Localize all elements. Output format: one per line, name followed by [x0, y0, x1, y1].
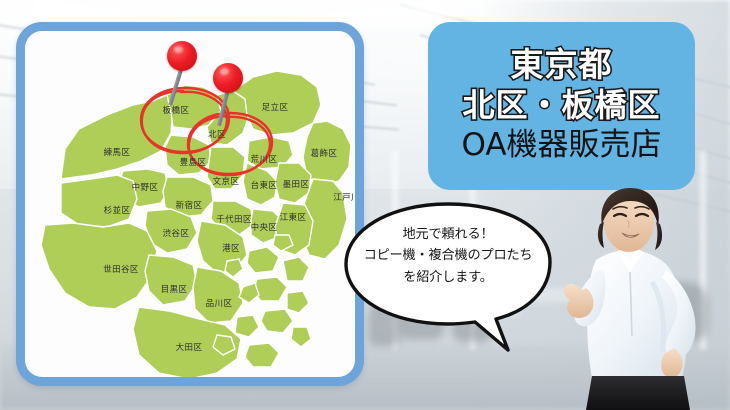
pin-head: [167, 41, 197, 71]
ward-label: 大田区: [176, 341, 203, 353]
presenter-hair-side-left: [598, 222, 604, 248]
ward-label: 文京区: [213, 175, 240, 187]
presenter-hair-side-right: [655, 222, 662, 250]
ward-label: 墨田区: [283, 178, 310, 190]
ward-label: 足立区: [262, 101, 289, 113]
title-line-3: OA機器販売店: [461, 127, 661, 164]
map-card: 練馬区板橋区北区足立区葛飾区荒川区豊島区文京区台東区墨田区江戸川区中野区新宿区千…: [16, 22, 364, 386]
map-container: 練馬区板橋区北区足立区葛飾区荒川区豊島区文京区台東区墨田区江戸川区中野区新宿区千…: [25, 31, 355, 377]
title-panel: 東京都 北区・板橋区 OA機器販売店: [428, 22, 695, 190]
ward-label: 江東区: [280, 211, 307, 223]
presenter-figure: [556, 186, 730, 410]
ward-label: 中央区: [251, 221, 278, 233]
speech-bubble-text: 地元で頼れる！ コピー機・複合機のプロたち を紹介します。: [354, 224, 542, 288]
presenter-photo: [556, 186, 730, 410]
ward-label: 世田谷区: [103, 263, 139, 275]
pin-highlight: [174, 46, 183, 53]
ward-label: 千代田区: [216, 213, 252, 225]
ward-label: 目黒区: [161, 283, 188, 295]
ward-label: 豊島区: [180, 156, 207, 168]
pin-highlight: [220, 68, 229, 75]
ward-label: 練馬区: [104, 146, 131, 158]
map-pin-kita[interactable]: [211, 61, 245, 127]
speech-bubble: 地元で頼れる！ コピー機・複合機のプロたち を紹介します。: [340, 198, 556, 358]
map-pin-itabashi[interactable]: [165, 39, 199, 105]
bubble-line-1: 地元で頼れる！: [354, 224, 542, 245]
ward-label: 渋谷区: [163, 227, 190, 239]
ward-label: 港区: [222, 242, 240, 254]
title-line-1: 東京都: [511, 46, 613, 85]
ward-label: 中野区: [132, 181, 159, 193]
ward-label: 台東区: [251, 179, 278, 191]
ward-label: 葛飾区: [311, 147, 338, 159]
ward-label: 板橋区: [163, 104, 190, 116]
title-line-2: 北区・板橋区: [462, 87, 660, 125]
ward-label: 荒川区: [251, 153, 278, 165]
ward-label: 杉並区: [104, 204, 131, 216]
banner-canvas: 練馬区板橋区北区足立区葛飾区荒川区豊島区文京区台東区墨田区江戸川区中野区新宿区千…: [0, 0, 730, 410]
ward-label: 北区: [208, 128, 226, 140]
bubble-line-2: コピー機・複合機のプロたち: [354, 245, 542, 266]
ward-label: 新宿区: [176, 199, 203, 211]
bubble-line-3: を紹介します。: [354, 267, 542, 288]
pin-head: [213, 63, 243, 93]
presenter-skirt: [586, 376, 690, 410]
ward-label: 品川区: [206, 297, 233, 309]
